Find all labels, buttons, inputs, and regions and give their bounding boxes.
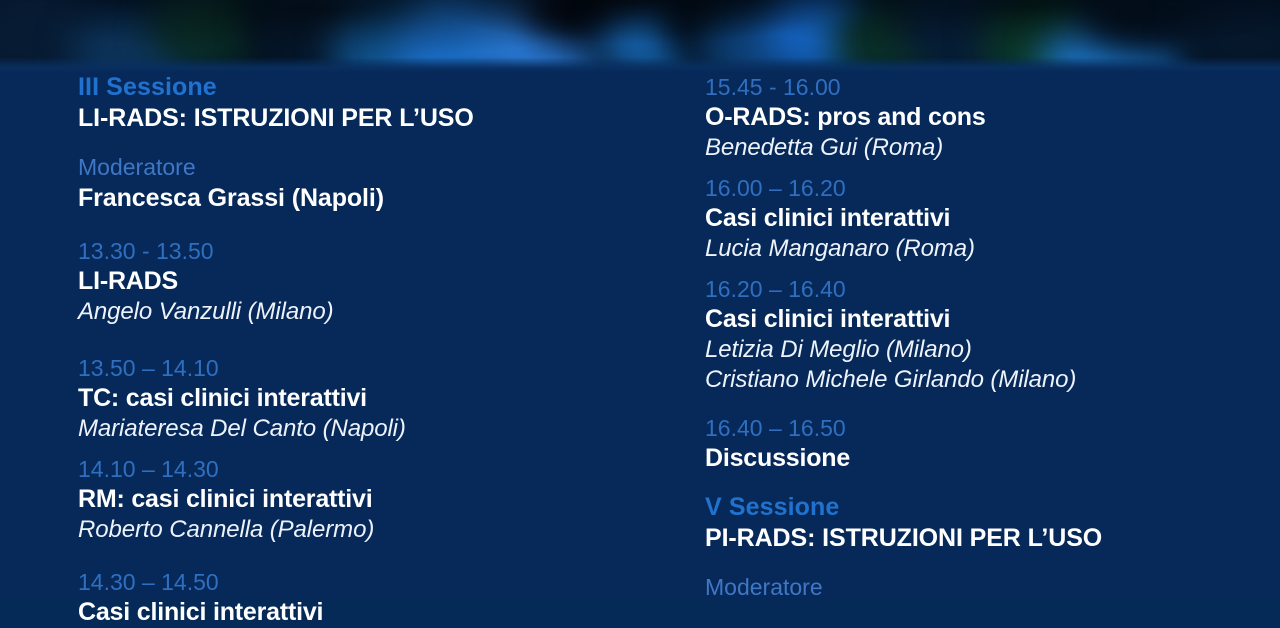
session-header-iii: III Sessione LI-RADS: ISTRUZIONI PER L’U… [78,72,658,134]
slot-speaker: Mariateresa Del Canto (Napoli) [78,414,658,444]
schedule-slot: 14.10 – 14.30 RM: casi clinici interatti… [78,454,658,545]
slot-speaker: Roberto Cannella (Palermo) [78,515,658,545]
slot-title: O-RADS: pros and cons [705,102,1265,133]
slot-time: 14.10 – 14.30 [78,454,658,484]
slot-time: 16.20 – 16.40 [705,274,1265,304]
schedule-slot: 13.30 - 13.50 LI-RADS Angelo Vanzulli (M… [78,236,658,327]
moderator-block-right: Moderatore [705,572,1265,602]
program-content: III Sessione LI-RADS: ISTRUZIONI PER L’U… [0,72,1280,600]
schedule-slot: 15.45 - 16.00 O-RADS: pros and cons Bene… [705,72,1265,163]
session-label: V Sessione [705,492,1265,522]
header-banner-image [0,0,1280,72]
moderator-label: Moderatore [705,572,1265,602]
banner-bottom-fade [0,58,1280,72]
slot-time: 13.30 - 13.50 [78,236,658,266]
slot-speaker: Benedetta Gui (Roma) [705,133,1265,163]
session-header-v: V Sessione PI-RADS: ISTRUZIONI PER L’USO [705,492,1265,554]
schedule-slot: 16.00 – 16.20 Casi clinici interattivi L… [705,173,1265,264]
slot-time: 13.50 – 14.10 [78,353,658,383]
slot-title: Casi clinici interattivi [78,597,658,628]
slot-time: 15.45 - 16.00 [705,72,1265,102]
slot-time: 14.30 – 14.50 [78,567,658,597]
schedule-slot: 13.50 – 14.10 TC: casi clinici interatti… [78,353,658,444]
slot-speaker: Cristiano Michele Girlando (Milano) [705,365,1265,395]
schedule-slot: 16.40 – 16.50 Discussione [705,413,1265,474]
session-label: III Sessione [78,72,658,102]
slot-title: LI-RADS [78,266,658,297]
moderator-label: Moderatore [78,152,658,182]
slot-title: Casi clinici interattivi [705,203,1265,234]
schedule-slot: 14.30 – 14.50 Casi clinici interattivi [78,567,658,628]
slot-speaker: Letizia Di Meglio (Milano) [705,335,1265,365]
session-title: PI-RADS: ISTRUZIONI PER L’USO [705,522,1265,554]
program-column-left: III Sessione LI-RADS: ISTRUZIONI PER L’U… [78,72,658,628]
slot-speaker: Angelo Vanzulli (Milano) [78,297,658,327]
moderator-name: Francesca Grassi (Napoli) [78,182,658,214]
schedule-slot: 16.20 – 16.40 Casi clinici interattivi L… [705,274,1265,395]
moderator-block-left: Moderatore Francesca Grassi (Napoli) [78,152,658,214]
slot-title: RM: casi clinici interattivi [78,484,658,515]
slot-speaker: Lucia Manganaro (Roma) [705,234,1265,264]
slot-title: Casi clinici interattivi [705,304,1265,335]
slot-time: 16.40 – 16.50 [705,413,1265,443]
session-title: LI-RADS: ISTRUZIONI PER L’USO [78,102,658,134]
slot-time: 16.00 – 16.20 [705,173,1265,203]
program-column-right: 15.45 - 16.00 O-RADS: pros and cons Bene… [705,72,1265,602]
slot-title: Discussione [705,443,1265,474]
slot-title: TC: casi clinici interattivi [78,383,658,414]
